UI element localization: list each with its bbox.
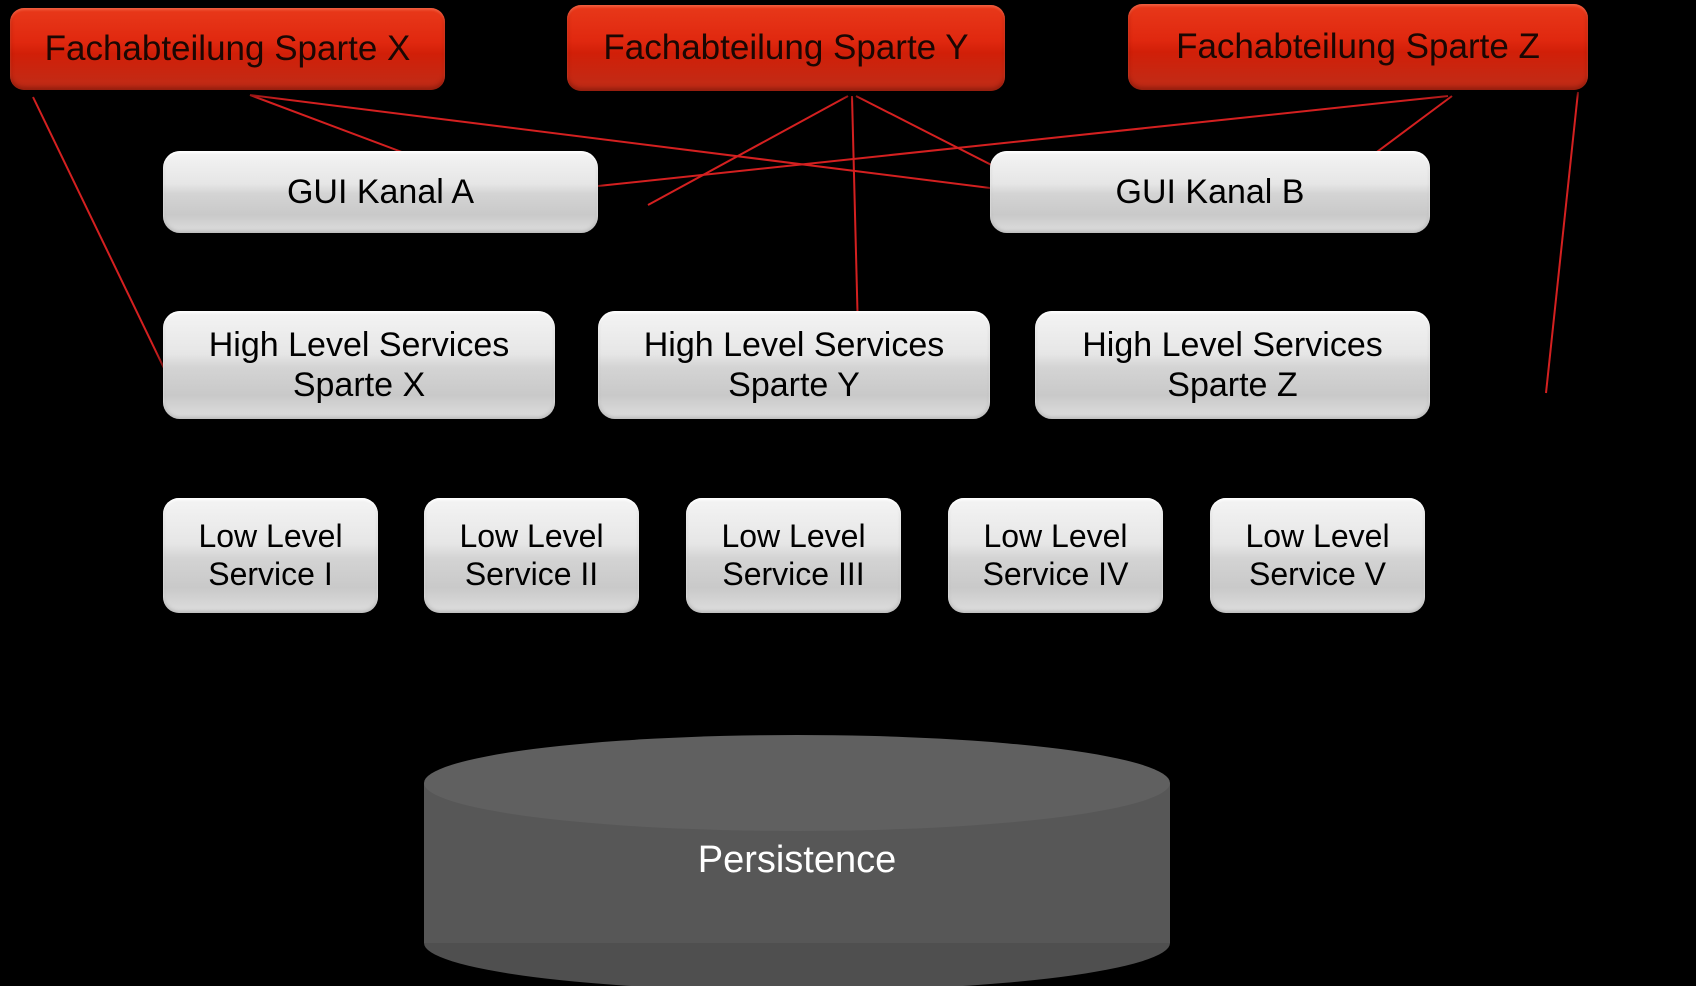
- low-level-service-box-lls-1[interactable]: Low Level Service I: [163, 498, 378, 613]
- high-level-service-box-label: High Level Services Sparte X: [209, 325, 509, 405]
- high-level-service-box-hls-x[interactable]: High Level Services Sparte X: [163, 311, 555, 419]
- gui-channel-box-gui-b[interactable]: GUI Kanal B: [990, 151, 1430, 233]
- persistence-label: Persistence: [424, 839, 1170, 882]
- connector-dept-x-to-gui-a: [250, 95, 415, 157]
- high-level-service-box-hls-y[interactable]: High Level Services Sparte Y: [598, 311, 990, 419]
- department-box-label: Fachabteilung Sparte X: [45, 28, 411, 69]
- low-level-service-box-label: Low Level Service I: [198, 518, 342, 594]
- high-level-service-box-label: High Level Services Sparte Y: [644, 325, 944, 405]
- persistence-cylinder[interactable]: Persistence: [424, 735, 1170, 986]
- department-box-dept-y[interactable]: Fachabteilung Sparte Y: [567, 5, 1005, 91]
- gui-channel-box-gui-a[interactable]: GUI Kanal A: [163, 151, 598, 233]
- low-level-service-box-lls-4[interactable]: Low Level Service IV: [948, 498, 1163, 613]
- cylinder-top-ellipse: [424, 735, 1170, 831]
- diagram-canvas: Fachabteilung Sparte XFachabteilung Spar…: [0, 0, 1696, 986]
- low-level-service-box-lls-2[interactable]: Low Level Service II: [424, 498, 639, 613]
- connector-dept-x-to-hls-x: [33, 97, 176, 393]
- low-level-service-box-label: Low Level Service IV: [983, 518, 1129, 594]
- department-box-label: Fachabteilung Sparte Y: [603, 27, 968, 68]
- high-level-service-box-hls-z[interactable]: High Level Services Sparte Z: [1035, 311, 1430, 419]
- connector-dept-y-to-gui-a: [648, 96, 848, 205]
- department-box-dept-z[interactable]: Fachabteilung Sparte Z: [1128, 4, 1588, 90]
- low-level-service-box-label: Low Level Service II: [459, 518, 603, 594]
- connector-dept-z-to-hls-z: [1546, 92, 1578, 393]
- department-box-dept-x[interactable]: Fachabteilung Sparte X: [10, 8, 445, 90]
- gui-channel-box-label: GUI Kanal B: [1116, 172, 1305, 212]
- low-level-service-box-lls-5[interactable]: Low Level Service V: [1210, 498, 1425, 613]
- gui-channel-box-label: GUI Kanal A: [287, 172, 474, 212]
- connector-dept-y-to-hls-y: [852, 96, 858, 332]
- low-level-service-box-lls-3[interactable]: Low Level Service III: [686, 498, 901, 613]
- low-level-service-box-label: Low Level Service III: [721, 518, 865, 594]
- high-level-service-box-label: High Level Services Sparte Z: [1082, 325, 1382, 405]
- low-level-service-box-label: Low Level Service V: [1245, 518, 1389, 594]
- department-box-label: Fachabteilung Sparte Z: [1176, 26, 1540, 67]
